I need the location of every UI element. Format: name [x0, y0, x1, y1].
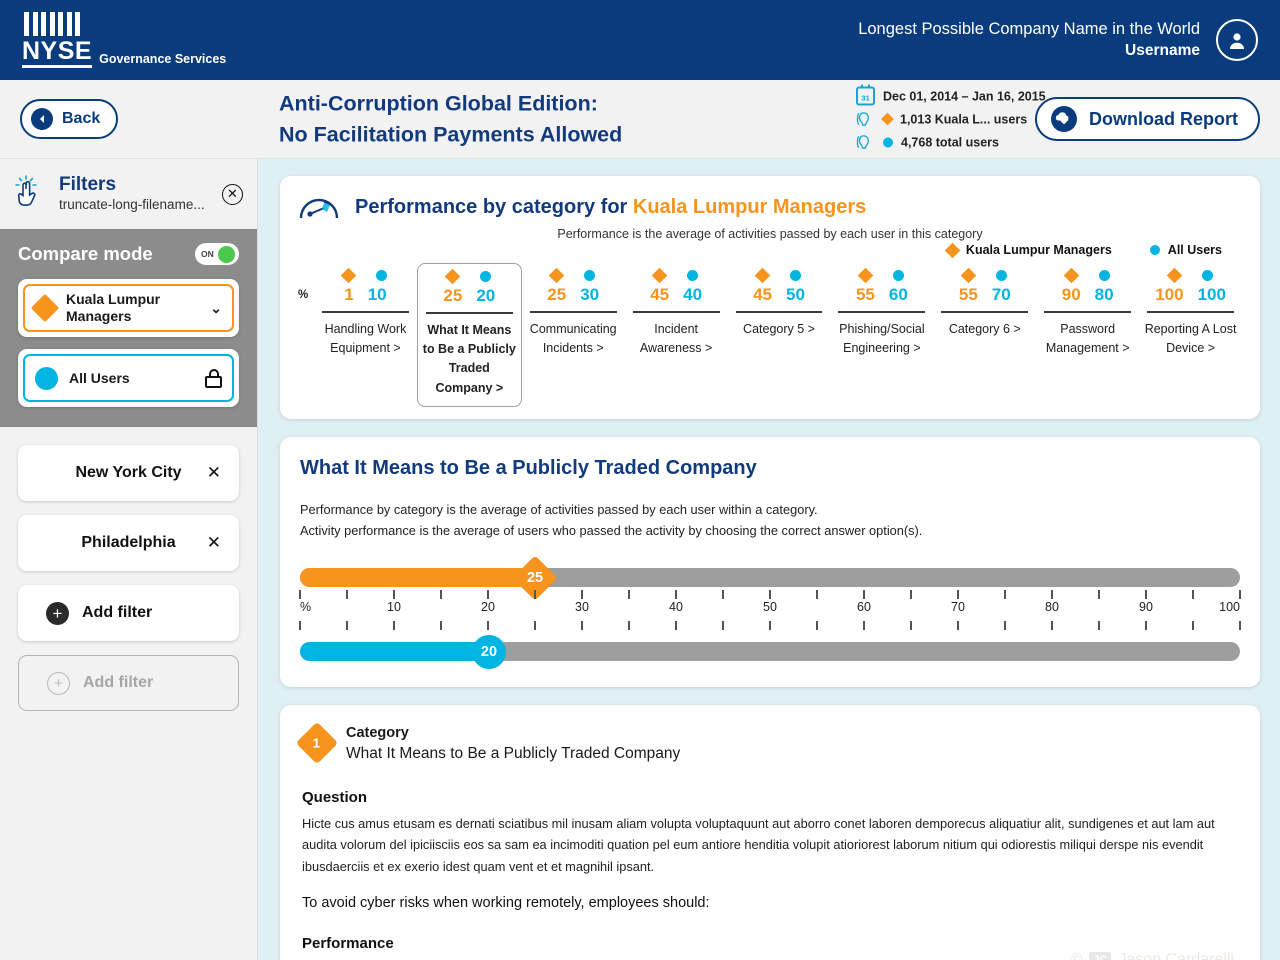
- category-value-all: 40: [683, 285, 702, 305]
- category-markers: [524, 269, 623, 282]
- category-name: Communicating Incidents >: [524, 320, 623, 359]
- category-divider: [530, 311, 617, 313]
- axis-ticks-bottom: [300, 621, 1240, 630]
- axis-tick: [1051, 590, 1052, 599]
- group-users-row: 1,013 Kuala L... users: [856, 110, 1046, 129]
- axis-tick: [346, 590, 347, 599]
- axis-tick-label: 100: [1219, 600, 1240, 614]
- company-name: Longest Possible Company Name in the Wor…: [858, 18, 1200, 40]
- account-area[interactable]: Longest Possible Company Name in the Wor…: [858, 18, 1258, 61]
- axis-tick: [863, 590, 864, 599]
- question-lead: To avoid cyber risks when working remote…: [302, 895, 1238, 911]
- page-body: Filters truncate-long-filename... ✕ Comp…: [0, 159, 1280, 960]
- axis-tick: [628, 590, 629, 599]
- watermark: © JC Jason Cardarelli: [1071, 951, 1234, 960]
- category-detail-card: What It Means to Be a Publicly Traded Co…: [280, 437, 1260, 687]
- download-cloud-icon: [1049, 104, 1079, 134]
- cyan-circle-marker: [35, 367, 58, 390]
- category-value-group: 45: [650, 285, 669, 305]
- user-circle-icon[interactable]: [1216, 19, 1258, 61]
- question-number: 1: [313, 735, 320, 750]
- axis-tick: [581, 621, 582, 630]
- category-name: Reporting A Lost Device >: [1141, 320, 1240, 359]
- page-title: Anti-Corruption Global Edition: No Facil…: [279, 88, 622, 149]
- performance-by-category-card: Performance by category for Kuala Lumpur…: [280, 176, 1260, 419]
- axis-tick-label: 30: [575, 600, 589, 614]
- category-column[interactable]: 5570Category 6 >: [933, 263, 1036, 347]
- date-range-text: Dec 01, 2014 – Jan 16, 2015: [883, 89, 1046, 103]
- percent-axis-label: %: [298, 263, 314, 301]
- axis-tick: [1239, 621, 1240, 630]
- compare-group-2-label: All Users: [69, 370, 194, 387]
- category-value-all: 60: [889, 285, 908, 305]
- axis-tick: [346, 621, 347, 630]
- category-value-all: 100: [1198, 285, 1226, 305]
- orange-diamond-marker: [1166, 268, 1182, 284]
- download-report-button[interactable]: Download Report: [1035, 97, 1260, 141]
- axis-tick-label: 70: [951, 600, 965, 614]
- slider-track-group[interactable]: 25: [300, 568, 1240, 587]
- category-name: Phishing/Social Engineering >: [832, 320, 931, 359]
- category-value-group: 45: [753, 285, 772, 305]
- compare-group-selector-2[interactable]: All Users: [18, 349, 239, 407]
- sub-header: Back Anti-Corruption Global Edition: No …: [0, 80, 1280, 159]
- plus-icon: +: [47, 672, 70, 695]
- category-name: Handling Work Equipment >: [316, 320, 415, 359]
- compare-mode-toggle[interactable]: ON: [195, 243, 239, 265]
- orange-diamond-marker: [945, 242, 961, 258]
- category-values: 5570: [935, 285, 1034, 305]
- axis-tick-label: 40: [669, 600, 683, 614]
- axis-tick: [1004, 621, 1005, 630]
- axis-tick-label: 90: [1139, 600, 1153, 614]
- orange-diamond-marker: [652, 268, 668, 284]
- slider-value-kuala-lumpur: 25: [527, 570, 543, 586]
- category-divider: [1044, 311, 1131, 313]
- add-filter-button[interactable]: + Add filter: [18, 585, 239, 641]
- question-body: Hicte cus amus etusam es dernati sciatib…: [302, 813, 1238, 878]
- date-range-row: 31 Dec 01, 2014 – Jan 16, 2015: [856, 87, 1046, 106]
- axis-tick: [816, 590, 817, 599]
- axis-tick: [816, 621, 817, 630]
- slider-track-all-users[interactable]: 20: [300, 642, 1240, 661]
- orange-diamond-marker: [881, 113, 894, 126]
- axis-tick: [1145, 590, 1146, 599]
- category-column[interactable]: 5560Phishing/Social Engineering >: [830, 263, 933, 366]
- filter-chip-label: New York City: [75, 464, 181, 482]
- calendar-icon: 31: [856, 87, 875, 106]
- axis-tick-label: 50: [763, 600, 777, 614]
- axis-tick: [393, 621, 394, 630]
- category-value-group: 1: [344, 285, 353, 305]
- compare-mode-label: Compare mode: [18, 243, 153, 265]
- category-divider: [941, 311, 1028, 313]
- nyse-logo[interactable]: NYSE Governance Services: [22, 12, 226, 68]
- axis-tick-label: 60: [857, 600, 871, 614]
- chevron-down-icon[interactable]: ⌄: [210, 300, 222, 317]
- close-icon[interactable]: ✕: [222, 184, 243, 205]
- watermark-copyright: ©: [1071, 951, 1082, 960]
- orange-diamond-marker: [341, 268, 357, 284]
- category-markers: [316, 269, 415, 282]
- category-value-all: 10: [368, 285, 387, 305]
- category-value-group: 55: [959, 285, 978, 305]
- axis-tick: [440, 590, 441, 599]
- orange-diamond-marker: [445, 269, 461, 285]
- slider-fill-kuala-lumpur: [300, 568, 535, 587]
- description-line-2: Activity performance is the average of u…: [300, 521, 1240, 542]
- question-number-badge: 1: [296, 721, 338, 763]
- compare-mode-panel: Compare mode ON Kuala Lumpur Managers ⌄: [0, 229, 257, 427]
- category-column[interactable]: 2530Communicating Incidents >: [522, 263, 625, 366]
- category-name: Incident Awareness >: [627, 320, 726, 359]
- question-detail-card: 1 Category What It Means to Be a Publicl…: [280, 705, 1260, 960]
- category-value-all: 30: [580, 285, 599, 305]
- cyan-circle-marker: [1150, 245, 1160, 255]
- filters-title: Filters: [59, 174, 211, 196]
- orange-diamond-marker: [858, 268, 874, 284]
- axis-tick: [1239, 590, 1240, 599]
- axis-tick: [957, 590, 958, 599]
- category-label: Category: [346, 725, 680, 741]
- compare-group-selector-1[interactable]: Kuala Lumpur Managers ⌄: [18, 279, 239, 337]
- axis-tick: [675, 590, 676, 599]
- compare-group-1-label: Kuala Lumpur Managers: [66, 291, 199, 325]
- download-report-label: Download Report: [1089, 109, 1238, 130]
- axis-tick: [1098, 621, 1099, 630]
- axis-tick: [299, 621, 300, 630]
- axis-tick: [628, 621, 629, 630]
- axis-tick: [1004, 590, 1005, 599]
- category-divider: [1147, 311, 1234, 313]
- category-divider: [838, 311, 925, 313]
- axis-tick: [1192, 621, 1193, 630]
- category-markers: [935, 269, 1034, 282]
- category-value-group: 100: [1155, 285, 1183, 305]
- axis-tick: [487, 621, 488, 630]
- cyan-circle-marker: [687, 270, 698, 281]
- legend-label: Kuala Lumpur Managers: [966, 243, 1112, 257]
- category-column[interactable]: 100100Reporting A Lost Device >: [1139, 263, 1242, 366]
- category-value-all: 20: [476, 286, 495, 306]
- logo-subtitle: Governance Services: [99, 53, 226, 69]
- axis-tick: [910, 621, 911, 630]
- axis-tick: [534, 590, 535, 599]
- category-detail-title: What It Means to Be a Publicly Traded Co…: [300, 457, 1240, 480]
- category-values: 2530: [524, 285, 623, 305]
- axis-tick: [534, 621, 535, 630]
- top-navigation-bar: NYSE Governance Services Longest Possibl…: [0, 0, 1280, 80]
- cyan-circle-marker: [790, 270, 801, 281]
- axis-tick: [1145, 621, 1146, 630]
- category-divider: [633, 311, 720, 313]
- category-value-group: 90: [1062, 285, 1081, 305]
- category-column[interactable]: 110Handling Work Equipment >: [314, 263, 417, 366]
- user-profile-icon: [856, 111, 875, 128]
- category-divider: [426, 312, 513, 314]
- gauge-icon: [298, 192, 342, 222]
- category-column[interactable]: 4550Category 5 >: [728, 263, 831, 347]
- axis-ticks-top: [300, 590, 1240, 599]
- axis-tick-label: 10: [387, 600, 401, 614]
- app-root: NYSE Governance Services Longest Possibl…: [0, 0, 1280, 960]
- description-line-1: Performance by category is the average o…: [300, 500, 1240, 521]
- category-value-group: 55: [856, 285, 875, 305]
- legend-item-all-users: All Users: [1150, 243, 1222, 257]
- category-value-all: 80: [1095, 285, 1114, 305]
- category-markers: [832, 269, 931, 282]
- toggle-state-label: ON: [197, 249, 214, 259]
- page-title-line1: Anti-Corruption Global Edition:: [279, 88, 622, 119]
- performance-heading: Performance: [302, 935, 1238, 952]
- slider-fill-all-users: [300, 642, 488, 661]
- legend-label: All Users: [1168, 243, 1222, 257]
- cyan-circle-marker: [584, 270, 595, 281]
- category-values: 110: [316, 285, 415, 305]
- question-category-block: 1 Category What It Means to Be a Publicl…: [302, 725, 1238, 763]
- performance-title-prefix: Performance by category for: [355, 196, 633, 218]
- close-icon[interactable]: ✕: [207, 533, 221, 553]
- category-name: Password Management >: [1038, 320, 1137, 359]
- cyan-circle-marker: [883, 137, 893, 147]
- axis-tick: [581, 590, 582, 599]
- cyan-circle-marker: [893, 270, 904, 281]
- page-title-line2: No Facilitation Payments Allowed: [279, 119, 622, 150]
- category-name: What It Means to Be a Publicly Traded Co…: [420, 321, 519, 399]
- category-name: Category 5 >: [730, 320, 829, 339]
- group-users-text: 1,013 Kuala L... users: [900, 112, 1027, 126]
- orange-diamond-marker: [961, 268, 977, 284]
- axis-tick: [957, 621, 958, 630]
- back-button[interactable]: Back: [20, 99, 118, 139]
- close-icon[interactable]: ✕: [207, 463, 221, 483]
- category-values: 5560: [832, 285, 931, 305]
- filters-subtitle: truncate-long-filename...: [59, 196, 211, 214]
- filters-sidebar: Filters truncate-long-filename... ✕ Comp…: [0, 159, 258, 960]
- username-label: Username: [858, 41, 1200, 62]
- axis-tick: [722, 590, 723, 599]
- axis-tick: [487, 590, 488, 599]
- category-column[interactable]: 2520What It Means to Be a Publicly Trade…: [417, 263, 522, 407]
- axis-tick: [299, 590, 300, 599]
- cyan-circle-marker: [480, 271, 491, 282]
- axis-tick: [1051, 621, 1052, 630]
- logo-bars-icon: [24, 12, 226, 36]
- total-users-row: 4,768 total users: [856, 133, 1046, 152]
- lock-icon: [205, 369, 222, 388]
- report-meta: 31 Dec 01, 2014 – Jan 16, 2015 1,013 Kua…: [856, 87, 1046, 152]
- category-value-group: 25: [443, 286, 462, 306]
- axis-tick: [769, 621, 770, 630]
- legend-item-kuala-lumpur-managers: Kuala Lumpur Managers: [947, 243, 1112, 257]
- chevron-left-icon: [31, 108, 53, 130]
- axis-tick: [1192, 590, 1193, 599]
- category-markers: [420, 270, 519, 283]
- axis-tick-label: 20: [481, 600, 495, 614]
- category-divider: [322, 311, 409, 313]
- cyan-circle-marker: [376, 270, 387, 281]
- category-markers: [1038, 269, 1137, 282]
- cyan-circle-marker: [996, 270, 1007, 281]
- total-users-text: 4,768 total users: [901, 135, 999, 149]
- question-heading: Question: [302, 789, 1238, 806]
- main-content: Performance by category for Kuala Lumpur…: [258, 159, 1280, 960]
- category-value-group: 25: [547, 285, 566, 305]
- category-columns: % 110Handling Work Equipment >2520What I…: [298, 263, 1242, 407]
- axis-tick-label: 80: [1045, 600, 1059, 614]
- category-markers: [730, 269, 829, 282]
- category-value: What It Means to Be a Publicly Traded Co…: [346, 745, 680, 763]
- axis-tick: [910, 590, 911, 599]
- axis-tick: [393, 590, 394, 599]
- filter-chip-new-york-city[interactable]: New York City ✕: [18, 445, 239, 501]
- category-markers: [1141, 269, 1240, 282]
- plus-icon: +: [46, 602, 69, 625]
- slider-knob-all-users[interactable]: 20: [472, 635, 506, 669]
- category-values: 2520: [420, 286, 519, 306]
- category-column[interactable]: 4540Incident Awareness >: [625, 263, 728, 366]
- add-filter-placeholder-label: Add filter: [83, 674, 153, 692]
- performance-card-title: Performance by category for Kuala Lumpur…: [355, 196, 866, 219]
- filter-chip-philadelphia[interactable]: Philadelphia ✕: [18, 515, 239, 571]
- axis-tick: [722, 621, 723, 630]
- user-profile-icon: [856, 134, 875, 151]
- axis-tick: [440, 621, 441, 630]
- watermark-name: Jason Cardarelli: [1118, 951, 1234, 960]
- orange-diamond-marker: [31, 294, 59, 322]
- category-values: 4540: [627, 285, 726, 305]
- back-button-label: Back: [62, 110, 100, 128]
- comparison-sliders: 25 %102030405060708090100 20: [300, 568, 1240, 661]
- category-detail-description: Performance by category is the average o…: [300, 500, 1240, 542]
- toggle-knob: [218, 246, 235, 263]
- category-name: Category 6 >: [935, 320, 1034, 339]
- axis-tick: [1098, 590, 1099, 599]
- category-divider: [736, 311, 823, 313]
- axis-tick: [863, 621, 864, 630]
- performance-title-highlight: Kuala Lumpur Managers: [633, 196, 866, 218]
- watermark-badge: JC: [1089, 952, 1111, 960]
- category-values: 100100: [1141, 285, 1240, 305]
- cyan-circle-marker: [1099, 270, 1110, 281]
- filters-header: Filters truncate-long-filename... ✕: [0, 159, 257, 229]
- logo-name: NYSE: [22, 39, 92, 68]
- axis-labels: %102030405060708090100: [300, 600, 1240, 618]
- category-value-all: 50: [786, 285, 805, 305]
- orange-diamond-marker: [755, 268, 771, 284]
- category-markers: [627, 269, 726, 282]
- axis-tick-label: %: [300, 600, 311, 614]
- orange-diamond-marker: [549, 268, 565, 284]
- filter-chip-label: Philadelphia: [81, 534, 175, 552]
- category-column[interactable]: 9080Password Management >: [1036, 263, 1139, 366]
- orange-diamond-marker: [1063, 268, 1079, 284]
- chart-legend: Kuala Lumpur Managers All Users: [298, 243, 1242, 257]
- axis-tick: [769, 590, 770, 599]
- add-filter-placeholder[interactable]: + Add filter: [18, 655, 239, 711]
- category-values: 9080: [1038, 285, 1137, 305]
- performance-card-subtitle: Performance is the average of activities…: [298, 227, 1242, 241]
- axis-tick: [675, 621, 676, 630]
- tap-hand-icon: [14, 175, 48, 213]
- category-value-all: 70: [992, 285, 1011, 305]
- category-values: 4550: [730, 285, 829, 305]
- cyan-circle-marker: [1202, 270, 1213, 281]
- add-filter-label: Add filter: [82, 604, 152, 622]
